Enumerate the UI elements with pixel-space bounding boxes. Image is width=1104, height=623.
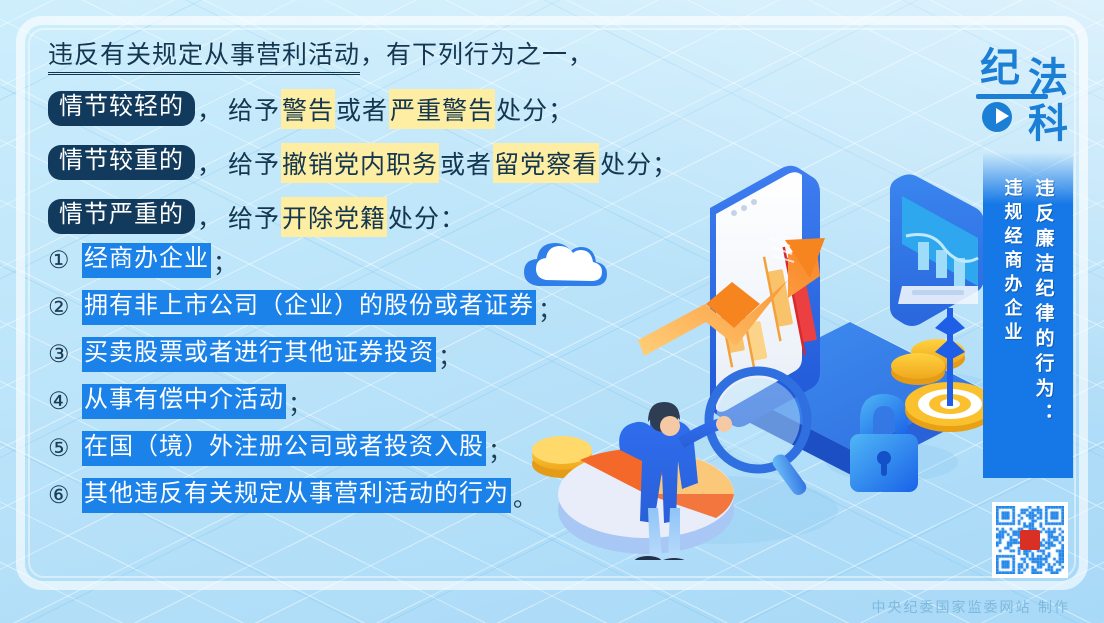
bar-chart-card-icon <box>890 174 984 326</box>
violation-list: ① 经商办企业 ； ② 拥有非上市公司（企业）的股份或者证券 ； ③ 买卖股票或… <box>48 243 768 525</box>
vertical-title-secondary: 违规经商办企业 <box>999 178 1025 478</box>
list-item-number: ① <box>48 246 82 275</box>
list-item-label: 在国（境）外注册公司或者投资入股 <box>82 431 486 466</box>
vertical-title-panel: 违反廉洁纪律的行为： 违规经商办企业 <box>983 152 1073 478</box>
penalty-highlight-0-3: 严重警告 <box>389 89 495 129</box>
list-item-number: ③ <box>48 340 82 369</box>
severity-badge-severe: 情节严重的 <box>48 199 195 233</box>
penalty-row-severe: 情节严重的 ， 给予开除党籍处分： <box>48 197 748 237</box>
policy-text-block: 违反有关规定从事营利活动，有下列行为之一， 情节较轻的 ， 给予警告或者严重警告… <box>48 42 748 237</box>
list-item: ① 经商办企业 ； <box>48 243 768 278</box>
list-item: ② 拥有非上市公司（企业）的股份或者证券 ； <box>48 290 768 325</box>
logo-char-ke: 科 <box>1028 104 1068 144</box>
penalty-text-1-4: 处分； <box>599 145 679 181</box>
list-item: ⑥ 其他违反有关规定从事营利活动的行为 。 <box>48 478 768 513</box>
list-item: ④ 从事有偿中介活动 ； <box>48 384 768 419</box>
list-item-label: 从事有偿中介活动 <box>82 384 286 419</box>
penalty-text-1-2: 或者 <box>439 145 493 181</box>
logo-char-ji: 纪 <box>980 48 1020 88</box>
penalty-text-2-0: 给予 <box>227 199 281 235</box>
vertical-title-primary: 违反廉洁纪律的行为： <box>1031 178 1058 478</box>
penalty-text-1-0: 给予 <box>227 145 281 181</box>
list-item-number: ② <box>48 293 82 322</box>
headline-row: 违反有关规定从事营利活动，有下列行为之一， <box>48 42 748 75</box>
list-item-label: 经商办企业 <box>82 243 211 278</box>
headline-rest: ，有下列行为之一， <box>360 42 594 70</box>
list-item-number: ⑤ <box>48 434 82 463</box>
penalty-row-medium: 情节较重的 ， 给予撤销党内职务或者留党察看处分； <box>48 143 748 183</box>
penalty-text-0-2: 或者 <box>335 91 389 127</box>
list-item-punct: ； <box>436 337 462 372</box>
list-item-number: ⑥ <box>48 481 82 510</box>
penalty-text-0-4: 处分； <box>495 91 575 127</box>
infographic-canvas: 违反有关规定从事营利活动，有下列行为之一， 情节较轻的 ， 给予警告或者严重警告… <box>0 0 1104 623</box>
list-item-punct: ； <box>536 290 562 325</box>
list-item-label: 其他违反有关规定从事营利活动的行为 <box>82 478 511 513</box>
severity-badge-medium: 情节较重的 <box>48 145 195 179</box>
headline-underlined: 违反有关规定从事营利活动 <box>48 42 360 75</box>
penalty-text-0-0: 给予 <box>227 91 281 127</box>
list-item-punct: ； <box>486 431 512 466</box>
penalty-highlight-1-1: 撤销党内职务 <box>281 143 439 183</box>
list-item-punct: 。 <box>511 478 537 513</box>
penalty-row-light: 情节较轻的 ， 给予警告或者严重警告处分； <box>48 89 748 129</box>
penalty-highlight-2-1: 开除党籍 <box>281 197 387 237</box>
penalty-separator: ， <box>195 145 227 181</box>
qr-code[interactable] <box>992 502 1068 578</box>
list-item: ③ 买卖股票或者进行其他证券投资 ； <box>48 337 768 372</box>
penalty-highlight-0-1: 警告 <box>281 89 335 129</box>
penalty-separator: ， <box>195 91 227 127</box>
logo-char-fa: 法 <box>1028 58 1068 98</box>
list-item-number: ④ <box>48 387 82 416</box>
list-item-punct: ； <box>286 384 312 419</box>
list-item-label: 买卖股票或者进行其他证券投资 <box>82 337 436 372</box>
brand-logo[interactable]: 纪 法 百 科 <box>976 46 1080 158</box>
list-item-label: 拥有非上市公司（企业）的股份或者证券 <box>82 290 536 325</box>
penalty-text-2-2: 处分： <box>387 199 467 235</box>
list-item: ⑤ 在国（境）外注册公司或者投资入股 ； <box>48 431 768 466</box>
severity-badge-light: 情节较轻的 <box>48 91 195 125</box>
penalty-separator: ， <box>195 199 227 235</box>
publisher-credit: 中央纪委国家监委网站 制作 <box>872 597 1070 617</box>
penalty-highlight-1-3: 留党察看 <box>493 143 599 183</box>
list-item-punct: ； <box>211 243 237 278</box>
seal-icon <box>1020 530 1040 550</box>
